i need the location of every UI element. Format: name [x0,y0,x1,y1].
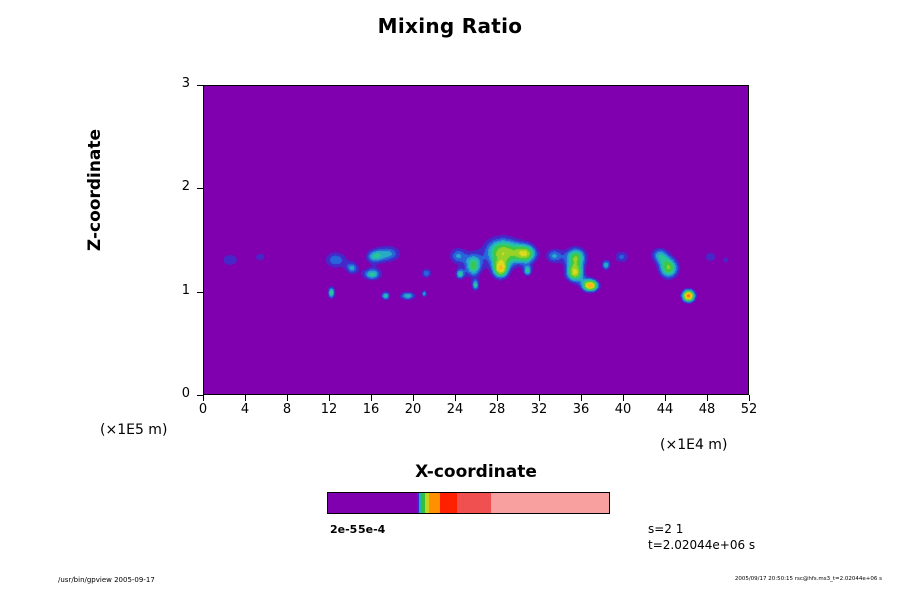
x-tick-mark [497,395,498,401]
x-tick-mark [371,395,372,401]
x-tick-mark [287,395,288,401]
x-tick-label: 8 [272,402,302,417]
y-tick-label: 2 [168,179,190,194]
y-tick-mark [197,85,203,86]
x-tick-label: 12 [314,402,344,417]
x-tick-label: 44 [650,402,680,417]
x-tick-label: 28 [482,402,512,417]
colorbar-label-max: 5e-4 [358,523,385,536]
x-tick-label: 36 [566,402,596,417]
annotation-s: s=2 1 [648,522,683,536]
y-axis-title: Z-coordinate [85,90,105,290]
contour-plot-canvas [204,86,747,393]
plot-area [203,85,749,395]
x-tick-mark [539,395,540,401]
x-tick-label: 4 [230,402,260,417]
y-tick-label: 3 [168,76,190,91]
footer-right: 2005/09/17 20:50:15 rsc@hfs.ms3_t=2.0204… [735,576,882,582]
colorbar-segment [491,493,609,513]
x-tick-label: 16 [356,402,386,417]
y-tick-mark [197,395,203,396]
x-axis-unit-right: (×1E4 m) [660,437,727,453]
x-tick-label: 40 [608,402,638,417]
colorbar-label-min: 2e-5 [330,523,450,536]
footer-left: /usr/bin/gpview 2005-09-17 [58,576,155,584]
colorbar-segment [440,493,457,513]
colorbar-segment [328,493,412,513]
colorbar-segment [429,493,440,513]
y-tick-label: 0 [168,386,190,401]
x-tick-mark [707,395,708,401]
colorbar-segment [457,493,491,513]
x-tick-mark [455,395,456,401]
x-tick-label: 48 [692,402,722,417]
x-tick-label: 52 [734,402,764,417]
y-tick-mark [197,188,203,189]
x-tick-label: 32 [524,402,554,417]
x-tick-label: 20 [398,402,428,417]
x-tick-mark [203,395,204,401]
x-tick-label: 24 [440,402,470,417]
x-tick-mark [329,395,330,401]
x-tick-mark [581,395,582,401]
x-axis-title: X-coordinate [203,462,749,482]
x-tick-mark [623,395,624,401]
x-tick-mark [245,395,246,401]
page-title: Mixing Ratio [0,14,900,38]
y-tick-label: 1 [168,283,190,298]
colorbar [327,492,610,514]
x-tick-mark [413,395,414,401]
x-tick-label: 0 [188,402,218,417]
y-tick-mark [197,292,203,293]
x-tick-mark [749,395,750,401]
x-axis-unit-left: (×1E5 m) [100,422,167,438]
x-tick-mark [665,395,666,401]
annotation-t: t=2.02044e+06 s [648,538,755,552]
